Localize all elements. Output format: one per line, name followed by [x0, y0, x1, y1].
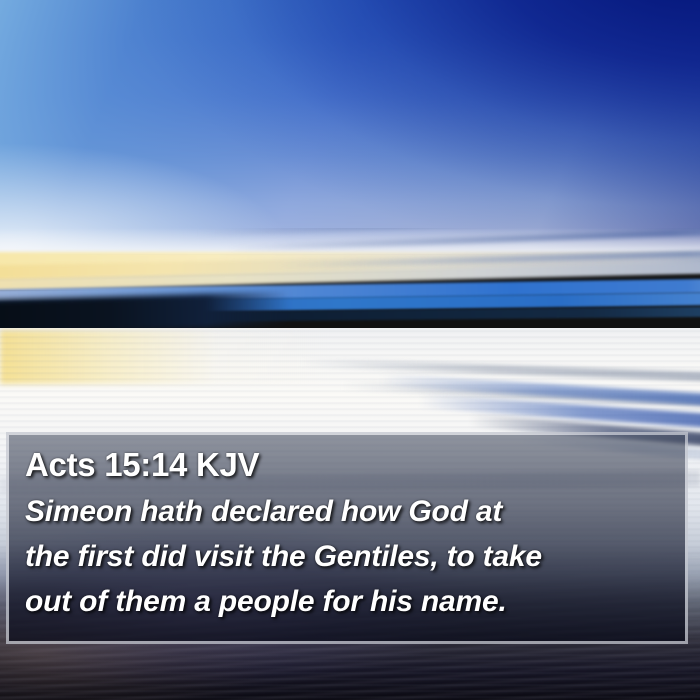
verse-text: Simeon hath declared how God at the firs…: [25, 489, 671, 624]
verse-image: Acts 15:14 KJV Simeon hath declared how …: [0, 0, 700, 700]
verse-text-line-1: Simeon hath declared how God at: [25, 489, 671, 534]
verse-content: Acts 15:14 KJV Simeon hath declared how …: [9, 435, 685, 624]
verse-reference: Acts 15:14 KJV: [25, 445, 671, 485]
verse-text-line-3: out of them a people for his name.: [25, 579, 671, 624]
verse-overlay-card: Acts 15:14 KJV Simeon hath declared how …: [6, 432, 688, 644]
verse-text-line-2: the first did visit the Gentiles, to tak…: [25, 534, 671, 579]
